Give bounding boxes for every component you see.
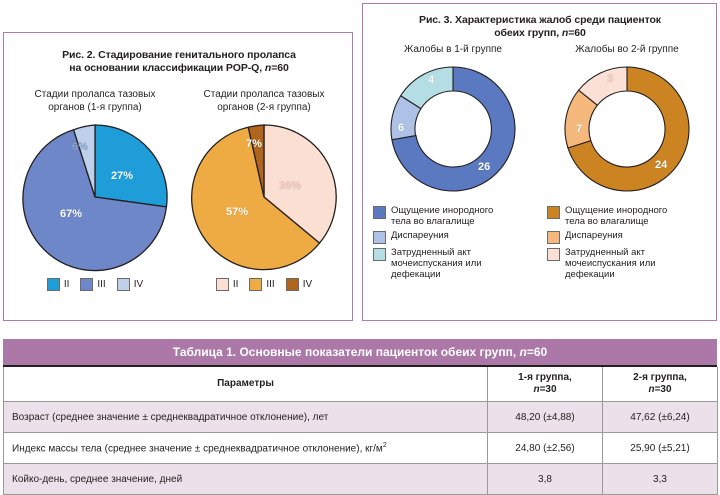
pie-1-legend-item-II: II [47,278,70,291]
donut-chart-group-2: Жалобы во 2-й группе 24 7 3 Ощущен [541,44,713,283]
pie-1-legend-label-III: III [97,279,105,290]
donut-2-legend-item-3: Затрудненный актмочеиспускания илидефека… [547,247,713,280]
donut-1-legend-item-3: Затрудненный актмочеиспускания илидефека… [373,247,539,280]
pie-2-legend-label-III: III [266,279,274,290]
pie-2-legend-item-III: III [249,278,274,291]
table-cell-group1: 3,8 [488,464,603,495]
figure-2-title-line2: на основании классификации POP-Q, n=60 [16,62,342,75]
pie-2-legend-label-II: II [233,279,239,290]
donut-2-legend-item-1: Ощущение инородноготела во влагалище [547,205,713,227]
pie-1-svg [20,122,170,272]
legend-swatch-icon [216,278,229,291]
figure-2-title: Рис. 2. Стадирование генитального пролап… [16,49,342,75]
table-1-block: Таблица 1. Основные показатели пациенток… [3,339,717,495]
donut-2-graphic: 24 7 3 [559,61,695,197]
table-1-caption: Таблица 1. Основные показатели пациенток… [3,339,717,367]
pie-2-subtitle: Стадии пролапса тазовых органов (2-я гру… [180,89,348,114]
legend-swatch-icon [547,206,560,219]
legend-swatch-icon [373,248,386,261]
pie-1-legend: II III IV [11,278,179,291]
table-cell-group2: 25,90 (±5,21) [603,433,718,464]
donut-1-legend: Ощущение инородноготела во влагалище Дис… [367,205,539,280]
donut-2-value-3: 3 [607,73,613,85]
pie-chart-group-2: Стадии пролапса тазовых органов (2-я гру… [180,89,348,291]
legend-swatch-icon [286,278,299,291]
table-cell-group1: 48,20 (±4,88) [488,402,603,433]
pie-2-svg [189,122,339,272]
donut-1-subtitle: Жалобы в 1-й группе [367,44,539,57]
donut-2-legend-label-2: Диспареуния [565,230,623,241]
table-cell-group2: 3,3 [603,464,718,495]
table-header-row: Параметры 1-я группа,n=30 2-я группа,n=3… [4,367,718,402]
pie-2-graphic: 36% 57% 7% [189,122,339,272]
figure-3-panel: Рис. 3. Характеристика жалоб среди пацие… [362,3,717,321]
table-cell-parameter: Индекс массы тела (среднее значение ± ср… [4,433,488,464]
figure-3-title-line2: обеих групп, n=60 [377,27,703,40]
pie-1-legend-item-IV: IV [117,278,143,291]
donut-2-legend-label-1: Ощущение инородноготела во влагалище [565,205,667,227]
figure-3-title-line1: Рис. 3. Характеристика жалоб среди пацие… [377,14,703,27]
pie-1-label-IV: 6% [72,141,88,153]
donut-2-legend: Ощущение инородноготела во влагалище Дис… [541,205,713,280]
donut-chart-group-1: Жалобы в 1-й группе 26 6 4 Ощущени [367,44,539,283]
donut-1-legend-item-2: Диспареуния [373,230,539,244]
pie-2-label-II: 36% [279,180,301,192]
legend-swatch-icon [249,278,262,291]
donut-1-value-1: 26 [478,161,490,173]
donut-1-legend-label-3: Затрудненный актмочеиспускания илидефека… [391,247,482,280]
table-1: Параметры 1-я группа,n=30 2-я группа,n=3… [3,367,718,495]
table-cell-parameter: Возраст (среднее значение ± среднеквадра… [4,402,488,433]
donut-2-value-1: 24 [655,159,667,171]
figure-3-title: Рис. 3. Характеристика жалоб среди пацие… [377,14,703,40]
donut-1-legend-label-2: Диспареуния [391,230,449,241]
pie-1-legend-label-IV: IV [134,279,143,290]
figure-2-panel: Рис. 2. Стадирование генитального пролап… [3,32,353,321]
pie-2-label-III: 57% [226,206,248,218]
table-row: Возраст (среднее значение ± среднеквадра… [4,402,718,433]
pie-1-subtitle-line2: органов (1-я группа) [11,102,179,115]
pie-1-graphic: 27% 67% 6% [20,122,170,272]
table-header-group-1: 1-я группа,n=30 [488,367,603,402]
pie-1-label-II: 27% [111,170,133,182]
pie-2-legend-item-II: II [216,278,239,291]
donut-1-value-3: 4 [428,74,434,86]
legend-swatch-icon [80,278,93,291]
figure-2-title-line1: Рис. 2. Стадирование генитального пролап… [16,49,342,62]
pie-1-legend-item-III: III [80,278,105,291]
pie-2-label-IV: 7% [246,138,262,150]
table-row: Койко-день, среднее значение, дней 3,8 3… [4,464,718,495]
table-cell-group1: 24,80 (±2,56) [488,433,603,464]
donut-2-legend-item-2: Диспареуния [547,230,713,244]
donut-1-svg [385,61,521,197]
pie-1-legend-label-II: II [64,279,70,290]
pie-1-label-III: 67% [60,208,82,220]
table-header-parameters: Параметры [4,367,488,402]
donut-1-value-2: 6 [398,122,404,134]
donut-1-legend-item-1: Ощущение инородноготела во влагалище [373,205,539,227]
pie-2-legend: II III IV [180,278,348,291]
pie-2-subtitle-line2: органов (2-я группа) [180,102,348,115]
donut-1-legend-label-1: Ощущение инородноготела во влагалище [391,205,493,227]
legend-swatch-icon [373,206,386,219]
pie-2-legend-item-IV: IV [286,278,312,291]
table-cell-parameter: Койко-день, среднее значение, дней [4,464,488,495]
pie-2-legend-label-IV: IV [303,279,312,290]
table-row: Индекс массы тела (среднее значение ± ср… [4,433,718,464]
legend-swatch-icon [547,248,560,261]
pie-1-subtitle-line1: Стадии пролапса тазовых [11,89,179,102]
donut-2-value-2: 7 [576,123,582,135]
pie-2-subtitle-line1: Стадии пролапса тазовых [180,89,348,102]
legend-swatch-icon [117,278,130,291]
pie-1-subtitle: Стадии пролапса тазовых органов (1-я гру… [11,89,179,114]
donut-1-graphic: 26 6 4 [385,61,521,197]
table-cell-group2: 47,62 (±6,24) [603,402,718,433]
donut-2-legend-label-3: Затрудненный актмочеиспускания илидефека… [565,247,656,280]
legend-swatch-icon [547,231,560,244]
table-header-group-2: 2-я группа,n=30 [603,367,718,402]
legend-swatch-icon [373,231,386,244]
pie-chart-group-1: Стадии пролапса тазовых органов (1-я гру… [11,89,179,291]
donut-2-subtitle: Жалобы во 2-й группе [541,44,713,57]
legend-swatch-icon [47,278,60,291]
